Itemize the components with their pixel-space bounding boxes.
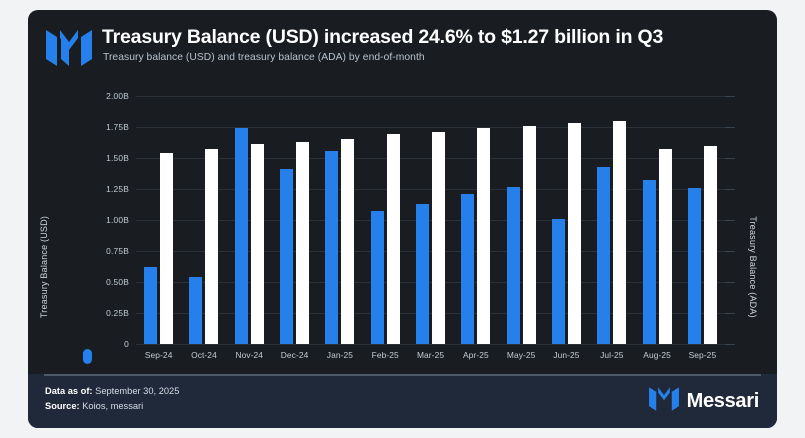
bar-usd[interactable] [416,204,429,344]
y-axis-tick-right [725,251,735,252]
x-axis-tick-label: Jul-25 [589,350,634,360]
messari-m-icon [46,28,92,68]
page-title: Treasury Balance (USD) increased 24.6% t… [102,26,663,49]
y-axis-label-left: Treasury Balance (USD) [39,202,49,332]
bar-usd[interactable] [552,219,565,344]
data-as-of-value: September 30, 2025 [95,386,179,396]
gridline: 0 [136,344,725,345]
plot-region: 2.00B1.75B1.50B1.25B1.00B0.75B0.50B0.25B… [136,96,725,344]
y-axis-tick-label: 2.00B [106,91,129,101]
source-label: Source: [45,401,80,411]
data-as-of-label: Data as of: [45,386,93,396]
y-axis-label-right: Treasury Balance (ADA) [748,202,758,332]
y-axis-tick-right [725,189,735,190]
bar-ada[interactable] [523,126,536,344]
bar-groups: Sep-24Oct-24Nov-24Dec-24Jan-25Feb-25Mar-… [136,96,725,344]
bar-group[interactable]: Oct-24 [181,96,226,344]
y-axis-tick-right [725,313,735,314]
y-axis-tick-right [725,220,735,221]
y-axis-tick-label: 0 [124,339,129,349]
bar-ada[interactable] [568,123,581,344]
bar-group[interactable]: May-25 [499,96,544,344]
x-axis-tick-label: Dec-24 [272,350,317,360]
bar-usd[interactable] [688,188,701,344]
bar-ada[interactable] [251,144,264,344]
bar-ada[interactable] [477,128,490,344]
y-axis-tick-right [725,96,735,97]
brand-name: Messari [687,390,759,413]
bar-usd[interactable] [597,167,610,344]
x-axis-tick-label: Sep-24 [136,350,181,360]
x-axis-tick-label: Nov-24 [227,350,272,360]
bar-usd[interactable] [643,180,656,344]
bar-group[interactable]: Aug-25 [634,96,679,344]
bar-ada[interactable] [387,134,400,344]
bar-group[interactable]: Jan-25 [317,96,362,344]
y-axis-tick-label: 0.75B [106,246,129,256]
bar-group[interactable]: Dec-24 [272,96,317,344]
x-axis-tick-label: Sep-25 [680,350,725,360]
bar-ada[interactable] [341,139,354,344]
bar-usd[interactable] [507,187,520,344]
y-axis-tick-right [725,344,735,345]
y-axis-tick-right [725,282,735,283]
bar-group[interactable]: Jun-25 [544,96,589,344]
bar-ada[interactable] [205,149,218,344]
bar-usd[interactable] [144,267,157,344]
source-line: Source: Koios, messari [45,399,179,414]
x-axis-tick-label: Mar-25 [408,350,453,360]
chart-subtitle: Treasury balance (USD) and treasury bala… [103,52,425,63]
chart-card: Treasury Balance (USD) increased 24.6% t… [28,10,777,428]
y-axis-tick-label: 0.25B [106,308,129,318]
footer-meta: Data as of: September 30, 2025 Source: K… [45,384,179,413]
legend-marker-usd [83,349,92,364]
bar-ada[interactable] [613,121,626,344]
bar-usd[interactable] [189,277,202,344]
bar-group[interactable]: Mar-25 [408,96,453,344]
brand-lockup: Messari [649,386,759,417]
x-axis-tick-label: Feb-25 [363,350,408,360]
x-axis-tick-label: Jan-25 [317,350,362,360]
y-axis-tick-right [725,158,735,159]
chart-header: Treasury Balance (USD) increased 24.6% t… [28,10,777,72]
bar-ada[interactable] [296,142,309,344]
bar-ada[interactable] [659,149,672,344]
bar-ada[interactable] [160,153,173,344]
data-as-of-line: Data as of: September 30, 2025 [45,384,179,399]
messari-m-icon [649,386,679,417]
bar-group[interactable]: Jul-25 [589,96,634,344]
x-axis-tick-label: Oct-24 [181,350,226,360]
y-axis-tick-label: 0.50B [106,277,129,287]
bar-usd[interactable] [371,211,384,344]
bar-usd[interactable] [280,169,293,344]
x-axis-tick-label: Aug-25 [634,350,679,360]
bar-ada[interactable] [432,132,445,344]
chart-footer: Data as of: September 30, 2025 Source: K… [28,374,777,428]
y-axis-tick-label: 1.25B [106,184,129,194]
chart-area: Treasury Balance (USD) Treasury Balance … [28,72,777,374]
bar-group[interactable]: Apr-25 [453,96,498,344]
y-axis-tick-label: 1.00B [106,215,129,225]
bar-usd[interactable] [235,128,248,344]
y-axis-tick-label: 1.75B [106,122,129,132]
footer-divider [44,374,761,376]
bar-ada[interactable] [704,146,717,344]
x-axis-tick-label: Jun-25 [544,350,589,360]
x-axis-tick-label: May-25 [499,350,544,360]
bar-group[interactable]: Sep-25 [680,96,725,344]
y-axis-tick-right [725,127,735,128]
bar-usd[interactable] [461,194,474,344]
bar-group[interactable]: Nov-24 [227,96,272,344]
bar-group[interactable]: Sep-24 [136,96,181,344]
y-axis-tick-label: 1.50B [106,153,129,163]
x-axis-tick-label: Apr-25 [453,350,498,360]
source-value: Koios, messari [82,401,143,411]
bar-usd[interactable] [325,151,338,344]
bar-group[interactable]: Feb-25 [363,96,408,344]
